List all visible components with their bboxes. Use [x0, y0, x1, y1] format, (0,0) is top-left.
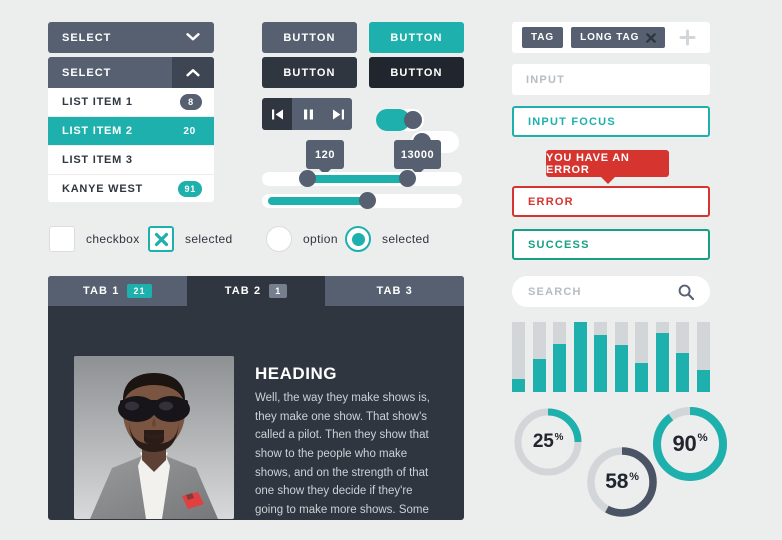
donut-chart-58: 58% [584, 444, 660, 520]
slider-min-value: 120 [315, 149, 335, 161]
pause-icon[interactable] [292, 98, 324, 130]
list-item-badge: 8 [180, 94, 202, 110]
checkbox-checked-label: selected [185, 232, 233, 246]
radio-selected-label: selected [382, 232, 430, 246]
card-body: Well, the way they make shows is, they m… [255, 389, 443, 520]
tabbed-card: TAB 1 21 TAB 2 1 TAB 3 [48, 276, 464, 520]
bar-value [635, 363, 648, 392]
range-slider-handle-min[interactable] [299, 170, 316, 187]
checkbox-unchecked[interactable] [49, 226, 75, 252]
slider-max-tooltip: 13000 [394, 140, 441, 169]
select-open[interactable]: SELECT [48, 57, 214, 88]
input-error[interactable]: ERROR [512, 186, 710, 217]
radio-dot [352, 233, 365, 246]
range-slider-fill [307, 175, 407, 183]
single-slider-handle[interactable] [359, 192, 376, 209]
ui-kit-canvas: SELECT SELECT LIST ITEM 1 8 LIST ITEM 2 … [0, 0, 782, 540]
select-closed[interactable]: SELECT [48, 22, 214, 53]
tab-1-label: TAB 1 [83, 285, 119, 297]
skip-previous-icon[interactable] [262, 98, 292, 130]
bar-value [594, 335, 607, 392]
list-item-badge: 20 [177, 123, 202, 139]
tab-2-label: TAB 2 [225, 285, 261, 297]
input-focus[interactable]: INPUT FOCUS [512, 106, 710, 137]
checkbox-checked[interactable] [148, 226, 174, 252]
button-darker[interactable]: BUTTON [369, 57, 464, 88]
search-placeholder: SEARCH [528, 286, 678, 298]
slider-min-tooltip: 120 [306, 140, 344, 169]
bar-value [615, 345, 628, 392]
button-dark[interactable]: BUTTON [262, 57, 357, 88]
bar-value [697, 370, 710, 392]
list-item-label: LIST ITEM 1 [62, 96, 180, 108]
chevron-up-icon[interactable] [172, 57, 214, 88]
donut-25-value: 25% [512, 406, 584, 478]
tag-label: TAG [531, 32, 554, 43]
bar-value [553, 344, 566, 392]
bar-value [512, 379, 525, 392]
bar-value [533, 359, 546, 392]
radio-selected[interactable] [345, 226, 371, 252]
checkbox-unchecked-label: checkbox [86, 232, 140, 246]
toggle-on[interactable] [376, 109, 424, 131]
tab-1[interactable]: TAB 1 21 [48, 276, 187, 306]
error-tooltip-text: YOU HAVE AN ERROR [546, 152, 669, 176]
list-item-label: LIST ITEM 2 [62, 125, 177, 137]
single-slider[interactable] [262, 194, 462, 208]
donut-58-value: 58% [584, 444, 660, 520]
input-default-placeholder: INPUT [526, 74, 565, 86]
input-default[interactable]: INPUT [512, 64, 710, 95]
bar-chart [512, 322, 710, 392]
card-heading: HEADING [255, 364, 337, 384]
radio-unselected[interactable] [266, 226, 292, 252]
list-item-label: KANYE WEST [62, 183, 178, 195]
range-slider-handle-max[interactable] [399, 170, 416, 187]
tab-3[interactable]: TAB 3 [325, 276, 464, 306]
range-slider[interactable] [262, 172, 462, 186]
close-icon[interactable] [646, 33, 656, 43]
select-closed-label: SELECT [48, 32, 172, 44]
list-item[interactable]: LIST ITEM 1 8 [48, 88, 214, 117]
list-item-badge: 91 [178, 181, 202, 197]
tag-label: LONG TAG [580, 32, 639, 43]
radio-unselected-label: option [303, 232, 338, 246]
tag[interactable]: TAG [522, 27, 563, 48]
single-slider-fill [268, 197, 368, 205]
select-open-label: SELECT [48, 67, 172, 79]
donut-chart-25: 25% [512, 406, 584, 478]
error-tooltip: YOU HAVE AN ERROR [546, 150, 669, 177]
portrait-photo [74, 356, 234, 519]
plus-icon[interactable] [679, 29, 696, 46]
donut-chart-90: 90% [650, 404, 730, 484]
search-field[interactable]: SEARCH [512, 276, 710, 307]
button-teal[interactable]: BUTTON [369, 22, 464, 53]
toggle-on-knob[interactable] [404, 111, 422, 129]
media-player-controls [262, 98, 352, 130]
list-item[interactable]: KANYE WEST 91 [48, 175, 214, 202]
input-success-value: SUCCESS [528, 239, 590, 251]
tab-bar: TAB 1 21 TAB 2 1 TAB 3 [48, 276, 464, 306]
bar-value [676, 353, 689, 392]
tab-2-badge: 1 [269, 284, 287, 298]
skip-next-icon[interactable] [324, 98, 352, 130]
input-focus-value: INPUT FOCUS [528, 116, 616, 128]
tab-1-badge: 21 [127, 284, 151, 298]
donut-90-value: 90% [650, 404, 730, 484]
list-item-label: LIST ITEM 3 [62, 154, 202, 166]
bar-value [574, 322, 587, 392]
tab-3-label: TAB 3 [376, 285, 412, 297]
bar-value [656, 333, 669, 392]
button-slate[interactable]: BUTTON [262, 22, 357, 53]
select-listbox: LIST ITEM 1 8 LIST ITEM 2 20 LIST ITEM 3… [48, 88, 214, 202]
chevron-down-icon [172, 22, 214, 53]
input-error-value: ERROR [528, 196, 574, 208]
tab-2[interactable]: TAB 2 1 [187, 276, 326, 306]
list-item[interactable]: LIST ITEM 3 [48, 146, 214, 175]
tag-input-field[interactable]: TAG LONG TAG [512, 22, 710, 53]
search-icon[interactable] [678, 284, 694, 300]
slider-max-value: 13000 [401, 149, 434, 161]
input-success[interactable]: SUCCESS [512, 229, 710, 260]
close-icon [154, 232, 169, 247]
tag[interactable]: LONG TAG [571, 27, 665, 48]
list-item[interactable]: LIST ITEM 2 20 [48, 117, 214, 146]
